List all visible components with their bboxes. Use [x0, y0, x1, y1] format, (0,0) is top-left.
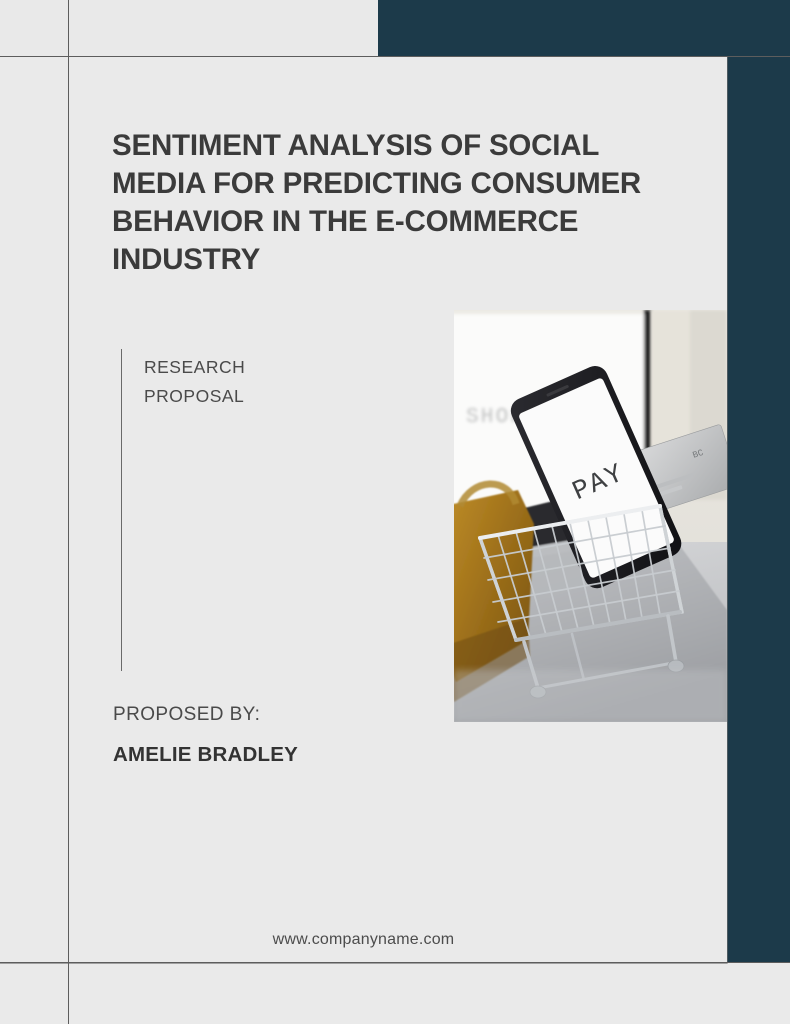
document-type-label: RESEARCHPROPOSAL — [144, 353, 354, 411]
accent-navy-right-band — [727, 0, 790, 964]
page-left-vertical-rule — [68, 0, 69, 1024]
page-sheet: SENTIMENT ANALYSIS OF SOCIAL MEDIA FOR P… — [0, 57, 727, 963]
footer-website-url: www.companyname.com — [0, 931, 727, 949]
page-title: SENTIMENT ANALYSIS OF SOCIAL MEDIA FOR P… — [112, 127, 687, 279]
cover-page-canvas: SENTIMENT ANALYSIS OF SOCIAL MEDIA FOR P… — [0, 0, 790, 1024]
kicker-divider-line — [121, 349, 122, 671]
cover-photo: SHOPPING — [454, 310, 727, 722]
author-name: AMELIE BRADLEY — [113, 743, 298, 767]
cover-photo-artwork: SHOPPING — [454, 310, 727, 722]
page-bottom-rule — [0, 962, 790, 963]
page-top-rule — [0, 56, 790, 57]
backdrop-gray-bottom — [0, 963, 790, 1024]
proposed-by-label: PROPOSED BY: — [113, 704, 260, 726]
backdrop-gray-top-left — [0, 0, 378, 57]
